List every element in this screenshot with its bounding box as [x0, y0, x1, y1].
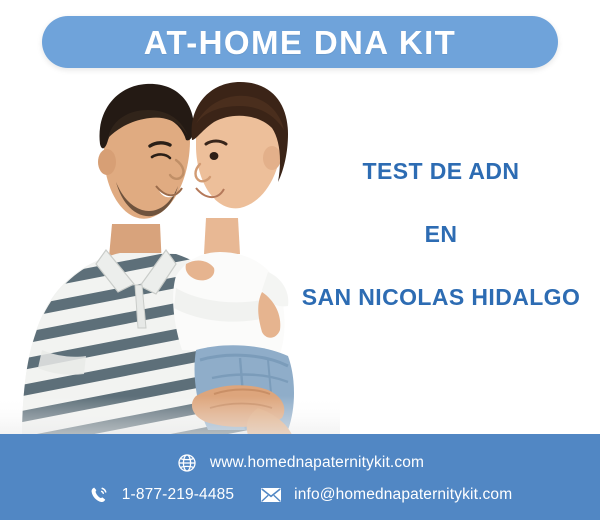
phone-text: 1-877-219-4485 [122, 486, 234, 504]
phone-icon [88, 484, 110, 506]
website-contact[interactable]: www.homednapaternitykit.com [176, 452, 424, 474]
headline-line-1: TEST DE ADN [282, 160, 600, 183]
banner-title: AT-HOME DNA KIT [144, 26, 456, 59]
headline-block: TEST DE ADN EN SAN NICOLAS HIDALGO [282, 160, 600, 309]
footer-row-phone-email: 1-877-219-4485 info@homednapaternitykit.… [0, 480, 600, 510]
phone-contact[interactable]: 1-877-219-4485 [88, 484, 234, 506]
headline-line-3: SAN NICOLAS HIDALGO [282, 286, 600, 309]
header-banner: AT-HOME DNA KIT [42, 16, 558, 68]
envelope-icon [260, 484, 282, 506]
email-contact[interactable]: info@homednapaternitykit.com [260, 484, 512, 506]
poster-root: AT-HOME DNA KIT [0, 0, 600, 520]
globe-icon [176, 452, 198, 474]
email-text: info@homednapaternitykit.com [294, 486, 512, 504]
footer-contact-bar: www.homednapaternitykit.com 1-877-219-44… [0, 434, 600, 520]
website-text: www.homednapaternitykit.com [210, 454, 424, 472]
headline-line-2: EN [282, 223, 600, 246]
footer-row-website: www.homednapaternitykit.com [0, 448, 600, 478]
